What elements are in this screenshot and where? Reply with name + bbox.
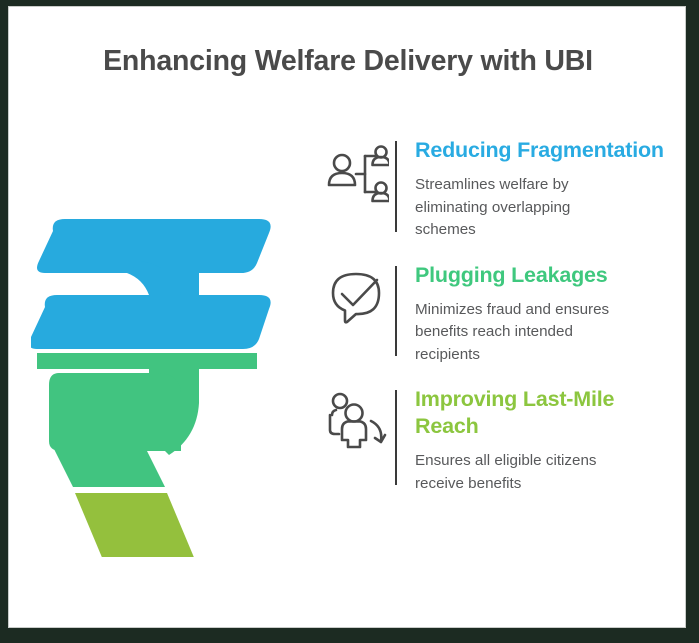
feature-block-list: Reducing Fragmentation Streamlines welfa…	[319, 135, 669, 513]
speech-bubble-check-icon	[319, 260, 395, 326]
block-title: Plugging Leakages	[415, 262, 669, 289]
feature-block-reducing-fragmentation: Reducing Fragmentation Streamlines welfa…	[319, 135, 669, 242]
people-hierarchy-icon	[319, 135, 395, 205]
infographic-card: Enhancing Welfare Delivery with UBI	[8, 6, 686, 628]
block-title: Reducing Fragmentation	[415, 137, 669, 164]
feature-block-last-mile-reach: Improving Last-Mile Reach Ensures all el…	[319, 384, 669, 495]
people-arrow-reach-icon	[319, 384, 395, 450]
image-frame: Enhancing Welfare Delivery with UBI	[0, 0, 699, 643]
rupee-illustration	[31, 197, 301, 557]
block-description: Minimizes fraud and ensures benefits rea…	[415, 299, 630, 367]
block-text-group: Improving Last-Mile Reach Ensures all el…	[397, 384, 669, 495]
rupee-bowl-green	[37, 353, 257, 369]
block-text-group: Reducing Fragmentation Streamlines welfa…	[397, 135, 669, 242]
page-title: Enhancing Welfare Delivery with UBI	[9, 45, 686, 78]
block-description: Ensures all eligible citizens receive be…	[415, 450, 630, 495]
block-title: Improving Last-Mile Reach	[415, 386, 669, 440]
feature-block-plugging-leakages: Plugging Leakages Minimizes fraud and en…	[319, 260, 669, 367]
block-text-group: Plugging Leakages Minimizes fraud and en…	[397, 260, 669, 367]
rupee-leg-olive	[75, 493, 229, 557]
block-description: Streamlines welfare by eliminating overl…	[415, 174, 630, 242]
rupee-left-green-block	[49, 373, 181, 451]
